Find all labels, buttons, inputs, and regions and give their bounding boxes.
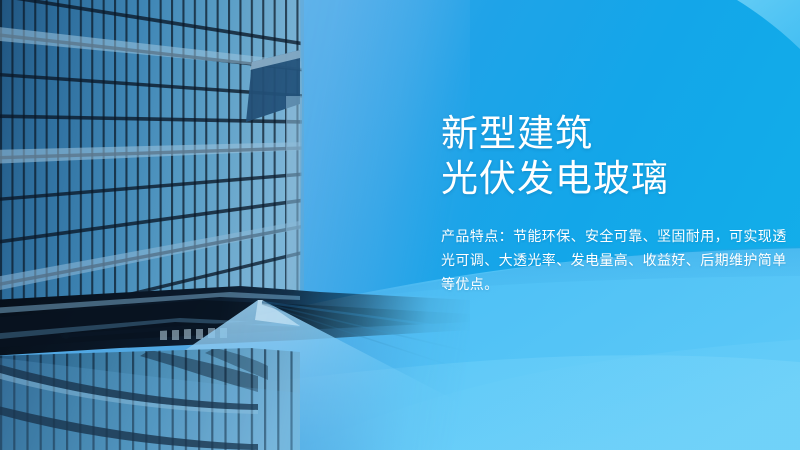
building-photo <box>0 0 470 450</box>
banner-title-line-1: 新型建筑 <box>441 112 793 156</box>
product-banner: 新型建筑 光伏发电玻璃 产品特点：节能环保、安全可靠、坚固耐用，可实现透光可调、… <box>0 0 800 450</box>
wave-corner-top-right <box>720 0 800 70</box>
banner-title-line-2: 光伏发电玻璃 <box>441 157 793 201</box>
distant-tower <box>286 96 302 301</box>
banner-description: 产品特点：节能环保、安全可靠、坚固耐用，可实现透光可调、大透光率、发电量高、收益… <box>441 225 789 297</box>
facade-right-edge <box>300 0 304 302</box>
banner-text-block: 新型建筑 光伏发电玻璃 产品特点：节能环保、安全可靠、坚固耐用，可实现透光可调、… <box>441 112 793 297</box>
building-photo-svg <box>0 0 470 450</box>
